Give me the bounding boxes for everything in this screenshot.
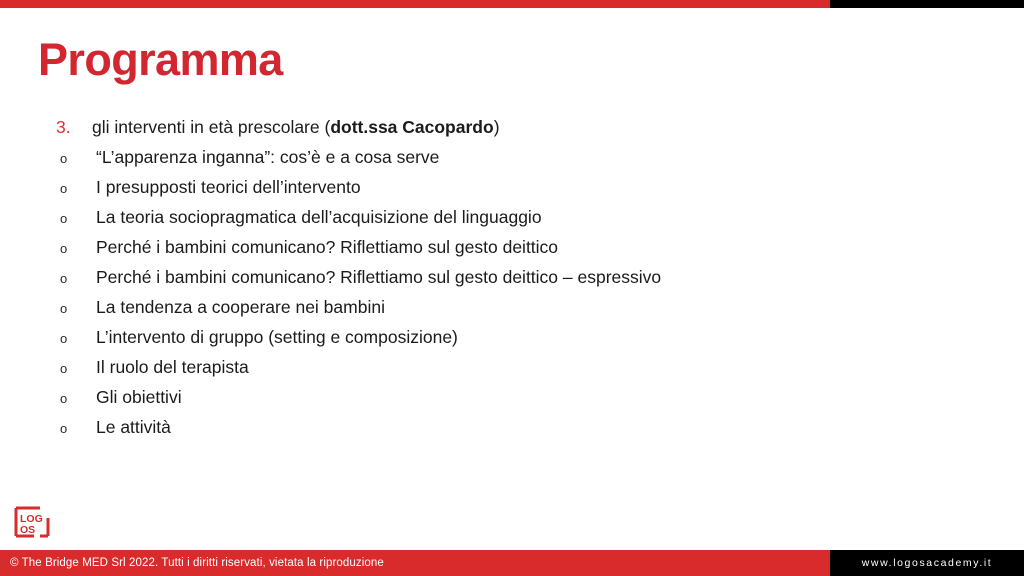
list-item: o Il ruolo del terapista bbox=[56, 352, 956, 382]
list-marker-circle-icon: o bbox=[56, 174, 96, 204]
list-item-label: Le attività bbox=[96, 412, 956, 442]
list-item-text-suffix: ) bbox=[494, 117, 500, 137]
list-marker-circle-icon: o bbox=[56, 414, 96, 444]
list-item-label: Il ruolo del terapista bbox=[96, 352, 956, 382]
list-marker-circle-icon: o bbox=[56, 384, 96, 414]
footer-bar: © The Bridge MED Srl 2022. Tutti i dirit… bbox=[0, 550, 1024, 576]
list-item-text-prefix: gli interventi in età prescolare ( bbox=[92, 117, 330, 137]
list-item-label: Perché i bambini comunicano? Riflettiamo… bbox=[96, 232, 956, 262]
list-item-label: Gli obiettivi bbox=[96, 382, 956, 412]
list-marker-circle-icon: o bbox=[56, 144, 96, 174]
top-accent-bar-black-segment bbox=[830, 0, 1024, 8]
top-accent-bar-red-segment bbox=[0, 0, 830, 8]
list-item: o Gli obiettivi bbox=[56, 382, 956, 412]
top-accent-bar bbox=[0, 0, 1024, 8]
list-item: o Perché i bambini comunicano? Riflettia… bbox=[56, 232, 956, 262]
list-item: o I presupposti teorici dell’intervento bbox=[56, 172, 956, 202]
list-item: 3. gli interventi in età prescolare (dot… bbox=[56, 112, 956, 142]
list-item-label: gli interventi in età prescolare (dott.s… bbox=[92, 112, 956, 142]
slide-title: Programma bbox=[38, 36, 283, 83]
list-item-label: “L’apparenza inganna”: cos’è e a cosa se… bbox=[96, 142, 956, 172]
list-item: o La teoria sociopragmatica dell’acquisi… bbox=[56, 202, 956, 232]
list-item: o Perché i bambini comunicano? Riflettia… bbox=[56, 262, 956, 292]
list-marker-circle-icon: o bbox=[56, 354, 96, 384]
list-item: o L’intervento di gruppo (setting e comp… bbox=[56, 322, 956, 352]
footer-copyright: © The Bridge MED Srl 2022. Tutti i dirit… bbox=[0, 550, 830, 576]
agenda-list: 3. gli interventi in età prescolare (dot… bbox=[56, 112, 956, 442]
list-item: o La tendenza a cooperare nei bambini bbox=[56, 292, 956, 322]
list-item-label: L’intervento di gruppo (setting e compos… bbox=[96, 322, 956, 352]
list-item-label: Perché i bambini comunicano? Riflettiamo… bbox=[96, 262, 956, 292]
logos-logo: LOG OS bbox=[14, 506, 50, 540]
list-marker-number: 3. bbox=[56, 112, 92, 142]
list-item: o Le attività bbox=[56, 412, 956, 442]
list-item-label: La tendenza a cooperare nei bambini bbox=[96, 292, 956, 322]
list-marker-circle-icon: o bbox=[56, 294, 96, 324]
logo-line2: OS bbox=[20, 524, 35, 536]
footer-website[interactable]: www.logosacademy.it bbox=[830, 550, 1024, 576]
list-marker-circle-icon: o bbox=[56, 234, 96, 264]
list-item-label: La teoria sociopragmatica dell’acquisizi… bbox=[96, 202, 956, 232]
list-item: o “L’apparenza inganna”: cos’è e a cosa … bbox=[56, 142, 956, 172]
list-marker-circle-icon: o bbox=[56, 324, 96, 354]
list-item-label: I presupposti teorici dell’intervento bbox=[96, 172, 956, 202]
list-item-text-bold: dott.ssa Cacopardo bbox=[330, 117, 493, 137]
list-marker-circle-icon: o bbox=[56, 204, 96, 234]
list-marker-circle-icon: o bbox=[56, 264, 96, 294]
